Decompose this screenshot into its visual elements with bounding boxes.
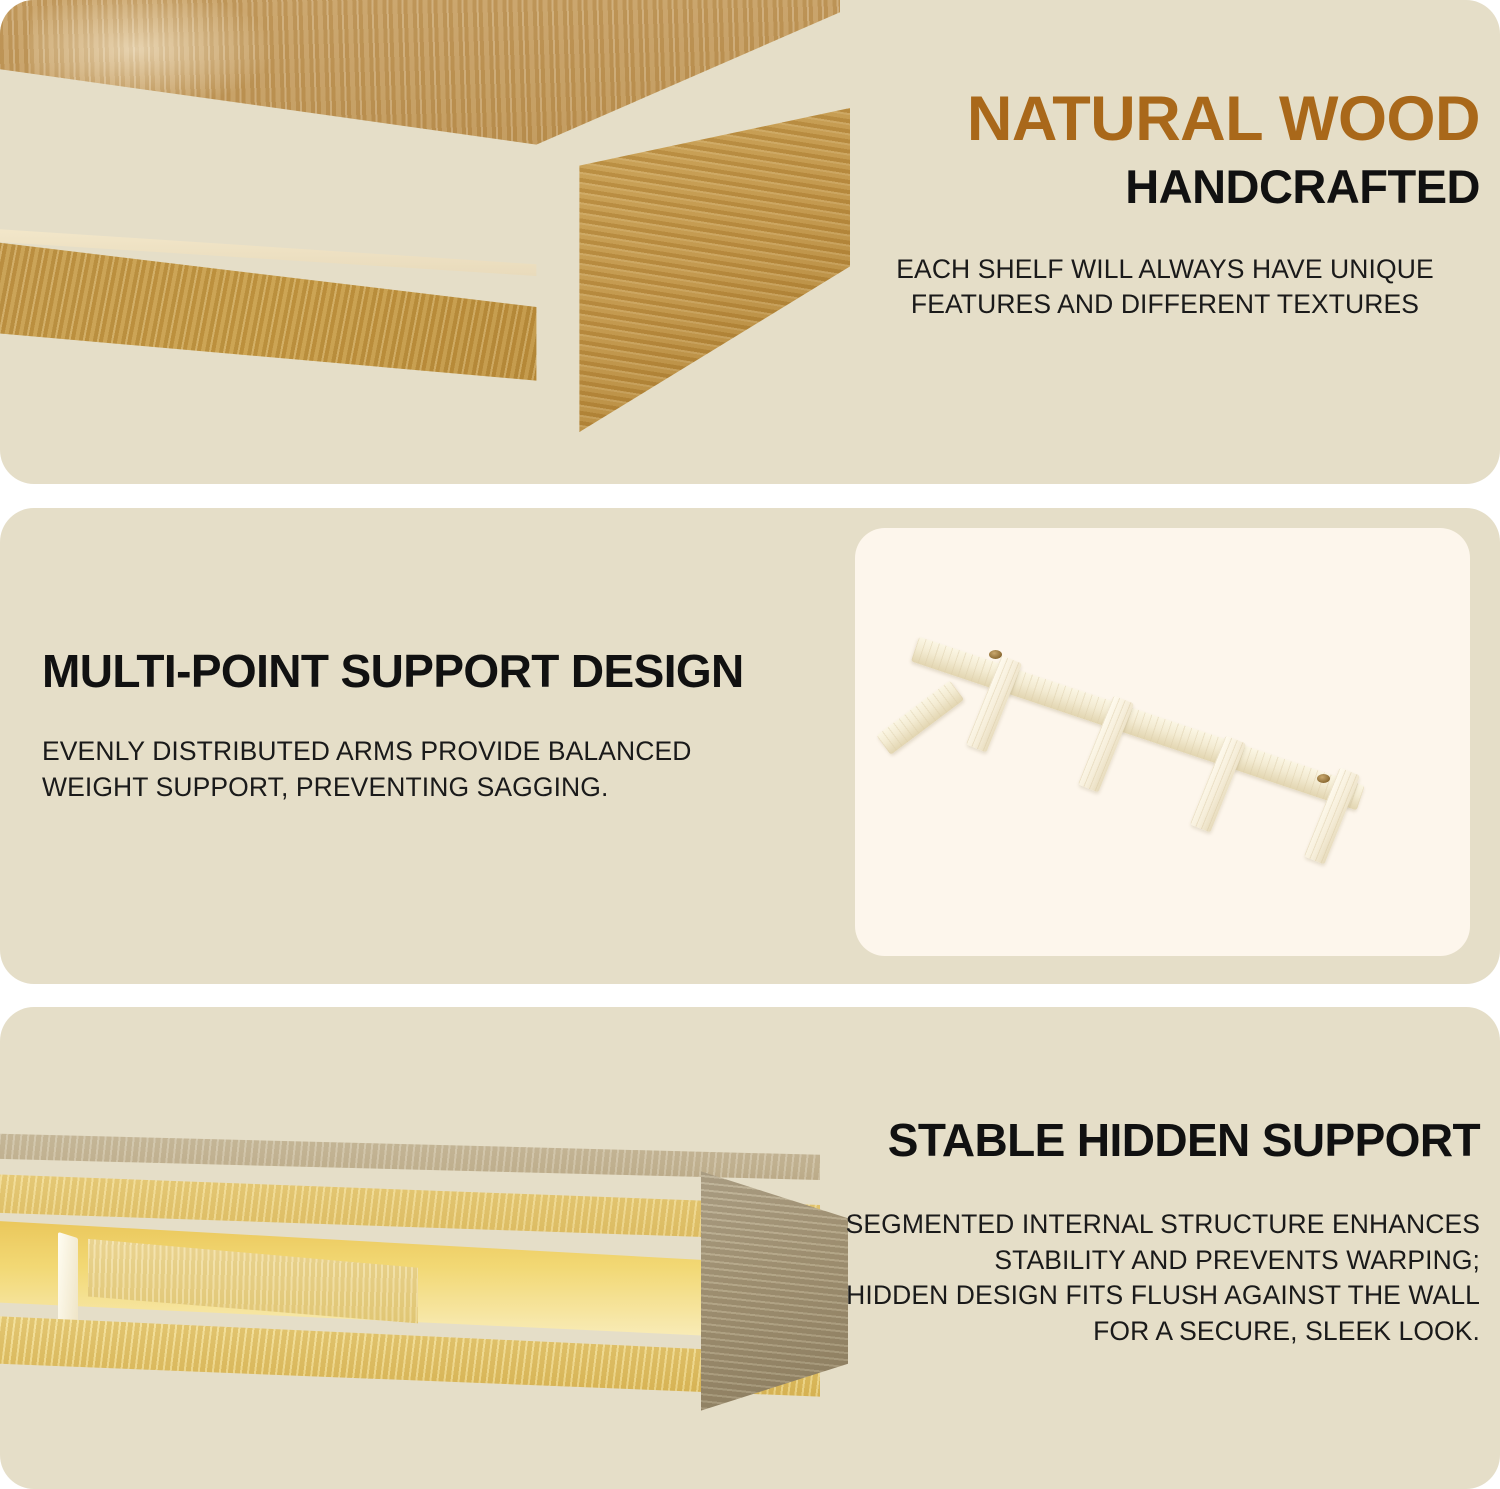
panel-natural-wood: NATURAL WOOD HANDCRAFTED EACH SHELF WILL… xyxy=(0,0,1500,484)
panel-natural-wood-copy: NATURAL WOOD HANDCRAFTED EACH SHELF WILL… xyxy=(850,88,1480,322)
wood-shelf-beam-image xyxy=(0,0,860,458)
body-line: SEGMENTED INTERNAL STRUCTURE ENHANCES xyxy=(840,1207,1480,1243)
body-line: STABILITY AND PREVENTS WARPING; xyxy=(840,1243,1480,1279)
body-line: FOR A SECURE, SLEEK LOOK. xyxy=(840,1314,1480,1350)
bracket-image-card xyxy=(855,528,1470,956)
body-line: EVENLY DISTRIBUTED ARMS PROVIDE BALANCED xyxy=(42,734,802,770)
body-line: HIDDEN DESIGN FITS FLUSH AGAINST THE WAL… xyxy=(840,1278,1480,1314)
heading-handcrafted: HANDCRAFTED xyxy=(850,163,1480,210)
bracket-left-return xyxy=(876,680,964,755)
wooden-mounting-bracket-image xyxy=(855,528,1470,956)
panel-stable-hidden-body: SEGMENTED INTERNAL STRUCTURE ENHANCES ST… xyxy=(840,1207,1480,1349)
panel-stable-hidden-support: STABLE HIDDEN SUPPORT SEGMENTED INTERNAL… xyxy=(0,1007,1500,1489)
beam-end-face xyxy=(520,108,850,468)
body-line: FEATURES AND DIFFERENT TEXTURES xyxy=(850,287,1480,322)
body-line: WEIGHT SUPPORT, PREVENTING SAGGING. xyxy=(42,770,802,806)
heading-natural-wood: NATURAL WOOD xyxy=(850,88,1480,151)
panel-multi-point-body: EVENLY DISTRIBUTED ARMS PROVIDE BALANCED… xyxy=(42,734,802,805)
heading-multi-point-support-design: MULTI-POINT SUPPORT DESIGN xyxy=(42,648,802,694)
body-line: EACH SHELF WILL ALWAYS HAVE UNIQUE xyxy=(850,252,1480,287)
hollow-shelf-cutaway-image xyxy=(0,1117,860,1447)
panel-multi-point-support: MULTI-POINT SUPPORT DESIGN EVENLY DISTRI… xyxy=(0,508,1500,984)
screw-hole xyxy=(1317,774,1330,783)
panel-natural-wood-body: EACH SHELF WILL ALWAYS HAVE UNIQUE FEATU… xyxy=(850,252,1480,322)
panel-multi-point-copy: MULTI-POINT SUPPORT DESIGN EVENLY DISTRI… xyxy=(42,648,802,805)
panel-stable-hidden-copy: STABLE HIDDEN SUPPORT SEGMENTED INTERNAL… xyxy=(840,1117,1480,1349)
heading-stable-hidden-support: STABLE HIDDEN SUPPORT xyxy=(840,1117,1480,1163)
shelf-end-cap xyxy=(680,1161,855,1421)
screw-hole xyxy=(989,650,1002,659)
